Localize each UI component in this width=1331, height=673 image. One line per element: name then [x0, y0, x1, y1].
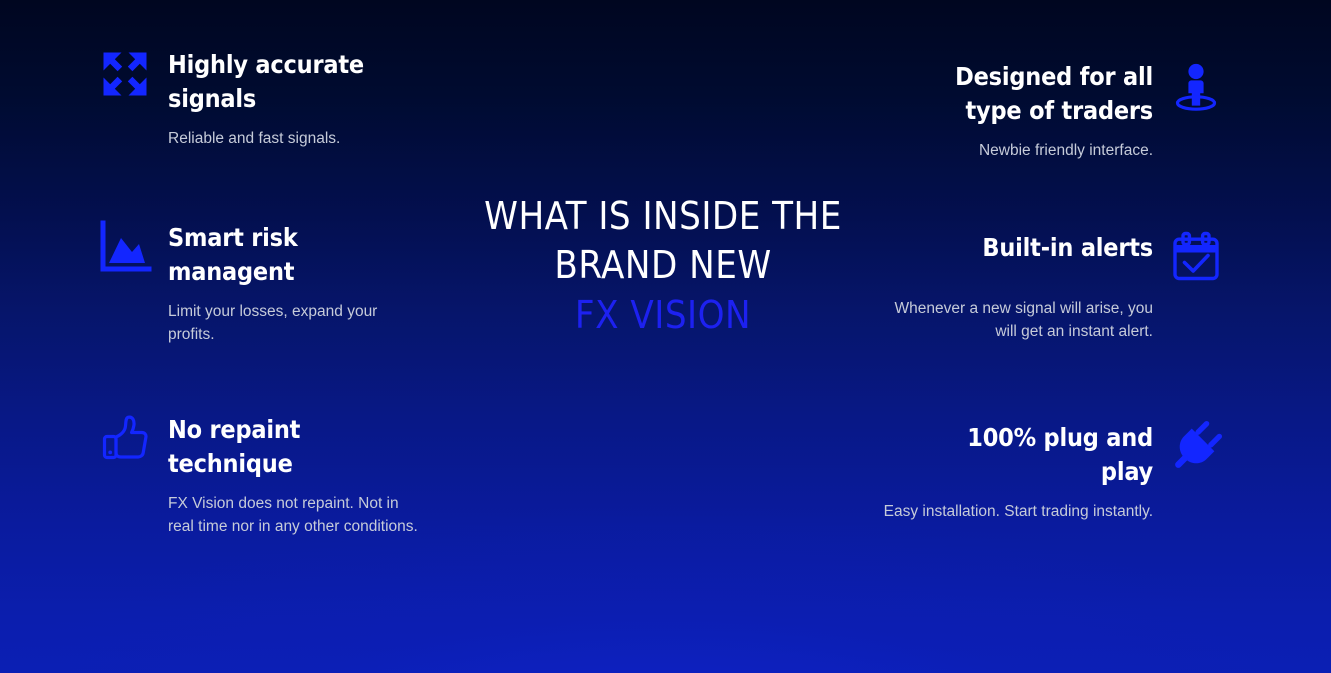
feature-card-built-in-alerts: Built-in alerts Whenever a new signal wi… — [880, 228, 1225, 344]
feature-description: Whenever a new signal will arise, you wi… — [880, 297, 1153, 344]
feature-title: 100% plug and play — [938, 418, 1153, 489]
person-on-platform-icon — [1167, 57, 1225, 115]
feature-title: No repaint technique — [168, 410, 383, 481]
calendar-check-icon — [1167, 228, 1225, 286]
feature-card-designed-for-all-traders: Designed for all type of traders Newbie … — [885, 57, 1225, 162]
feature-description: Reliable and fast signals. — [168, 127, 418, 150]
section-headline: WHAT IS INSIDE THE BRAND NEW FX VISION — [448, 192, 878, 340]
feature-description: FX Vision does not repaint. Not in real … — [168, 492, 420, 539]
feature-card-plug-and-play: 100% plug and play Easy installation. St… — [880, 418, 1225, 523]
feature-header: No repaint technique — [96, 410, 426, 481]
feature-title: Designed for all type of traders — [938, 57, 1153, 128]
features-section: Highly accurate signals Reliable and fas… — [0, 0, 1331, 673]
feature-description: Newbie friendly interface. — [885, 139, 1153, 162]
feature-header: Smart risk managent — [96, 218, 426, 289]
headline-line-2: BRAND NEW — [448, 241, 878, 290]
feature-header: Built-in alerts — [880, 228, 1225, 286]
expand-arrows-icon — [96, 45, 154, 103]
feature-title: Highly accurate signals — [168, 45, 383, 116]
headline-line-1: WHAT IS INSIDE THE — [448, 192, 878, 241]
power-plug-icon — [1167, 418, 1225, 476]
feature-title: Built-in alerts — [982, 228, 1153, 265]
thumbs-up-icon — [96, 410, 154, 468]
feature-card-no-repaint-technique: No repaint technique FX Vision does not … — [96, 410, 426, 539]
feature-title: Smart risk managent — [168, 218, 383, 289]
feature-description: Limit your losses, expand your profits. — [168, 300, 398, 347]
feature-card-smart-risk-managent: Smart risk managent Limit your losses, e… — [96, 218, 426, 347]
area-chart-icon — [96, 218, 154, 276]
headline-brand-name: FX VISION — [448, 291, 878, 340]
feature-header: 100% plug and play — [880, 418, 1225, 489]
feature-header: Designed for all type of traders — [885, 57, 1225, 128]
feature-card-highly-accurate-signals: Highly accurate signals Reliable and fas… — [96, 45, 426, 150]
feature-description: Easy installation. Start trading instant… — [880, 500, 1153, 523]
feature-header: Highly accurate signals — [96, 45, 426, 116]
